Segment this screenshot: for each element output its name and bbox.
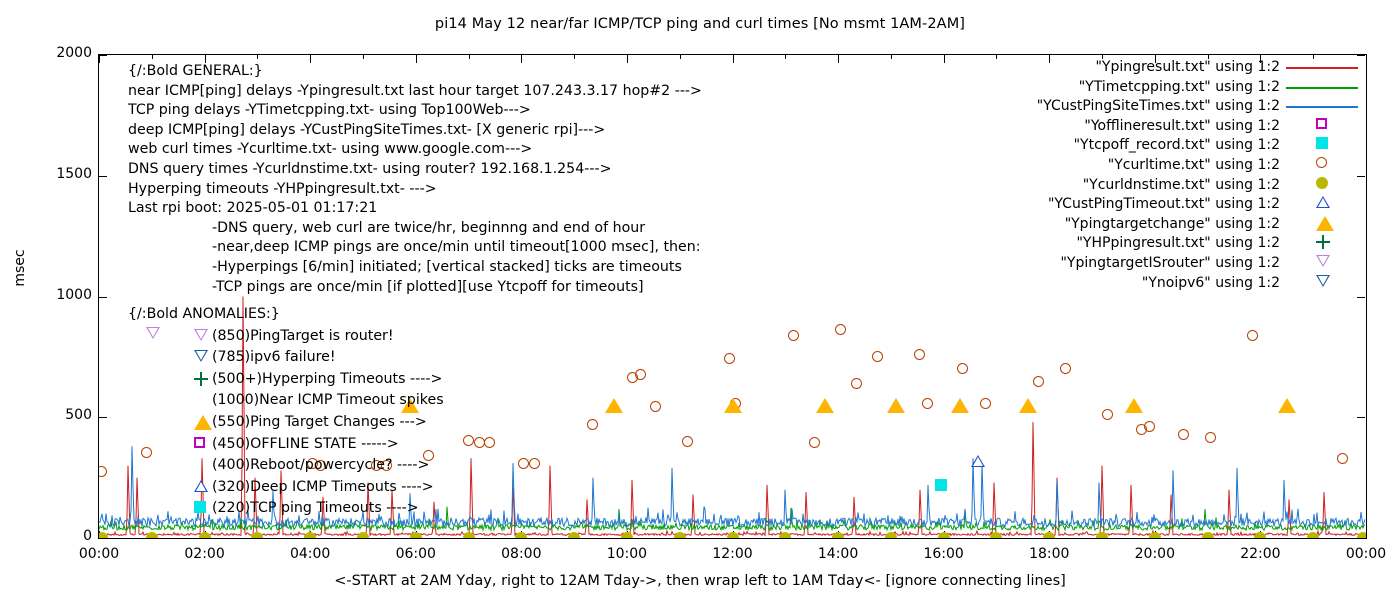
data-point-circle-open-brown [788, 330, 799, 341]
x-tick-label: 02:00 [184, 546, 224, 562]
data-point-circle-open-brown [484, 437, 495, 448]
data-point-circle-filled-olive [1149, 532, 1161, 538]
y-tick-label: 1000 [56, 287, 92, 303]
circle-filled-icon [515, 532, 527, 538]
plus-icon [1316, 235, 1330, 249]
data-point-circle-filled-olive [885, 532, 897, 538]
data-point-circle-open-brown [872, 351, 883, 362]
circle-open-icon [682, 436, 693, 447]
data-point-circle-filled-olive [304, 532, 316, 538]
general-line: near ICMP[ping] delays -Ypingresult.txt … [128, 82, 702, 102]
anomaly-label: (400)Reboot/powercycle? ----> [212, 455, 429, 477]
circle-filled-icon [357, 532, 369, 538]
circle-open-icon [922, 398, 933, 409]
anomaly-label: (450)OFFLINE STATE -----> [212, 434, 399, 456]
circle-open-icon [1144, 421, 1155, 432]
triangle-up-filled-icon [1125, 398, 1143, 413]
anomaly-row: (450)OFFLINE STATE -----> [128, 434, 280, 456]
legend-line-sample [1286, 106, 1358, 108]
anomaly-row: (400)Reboot/powercycle? ----> [128, 455, 280, 477]
legend-item-label: "Yofflineresult.txt" using 1:2 [1084, 117, 1280, 137]
circle-open-icon [99, 466, 107, 477]
legend-key [1286, 156, 1358, 176]
x-tick-label: 00:00 [79, 546, 119, 562]
general-line: DNS query times -Ycurldnstime.txt- using… [128, 160, 702, 180]
legend-item: "Ycurltime.txt" using 1:2 [930, 156, 1280, 176]
x-tick-mark [1366, 531, 1367, 539]
circle-open-icon [957, 363, 968, 374]
anomaly-row: (220)TCP ping Timeouts ----> [128, 498, 280, 520]
triangle-up-filled-icon [1316, 216, 1334, 231]
triangle-up-filled-icon [605, 398, 623, 413]
circle-filled-icon [938, 532, 950, 538]
circle-filled-icon [463, 532, 475, 538]
chart-title: pi14 May 12 near/far ICMP/TCP ping and c… [0, 16, 1400, 32]
x-tick-label: 08:00 [501, 546, 541, 562]
legend-item-label: "YHPpingresult.txt" using 1:2 [1076, 234, 1280, 254]
anomaly-label: (220)TCP ping Timeouts ----> [212, 498, 419, 520]
circle-open-icon [788, 330, 799, 341]
data-point-circle-open-brown [650, 401, 661, 412]
legend-line-sample [1286, 67, 1358, 69]
circle-filled-icon [779, 532, 791, 538]
general-line-indented: -DNS query, web curl are twice/hr, begin… [128, 219, 702, 239]
data-point-circle-open-brown [1247, 330, 1258, 341]
legend-key [1286, 215, 1358, 235]
circle-filled-icon [1043, 532, 1055, 538]
legend-item: "YHPpingresult.txt" using 1:2 [930, 234, 1280, 254]
circle-open-icon [1178, 429, 1189, 440]
data-point-circle-filled-olive [199, 532, 211, 538]
triangle-down-open-violet-icon [194, 329, 208, 341]
triangle-up-filled-icon [194, 415, 212, 430]
general-line-indented: -TCP pings are once/min [if plotted][use… [128, 278, 702, 298]
legend: "Ypingresult.txt" using 1:2"YTimetcpping… [930, 58, 1280, 293]
y-tick-mark [99, 538, 107, 539]
anomaly-symbol [194, 350, 208, 362]
circle-filled-icon [1307, 532, 1319, 538]
legend-key [1286, 78, 1358, 98]
circle-open-icon [914, 349, 925, 360]
legend-key [1286, 97, 1358, 117]
legend-key [1286, 117, 1358, 137]
data-point-triangle-up-filled-orange [816, 398, 834, 413]
triangle-up-filled-icon [724, 398, 742, 413]
circle-filled-icon [146, 532, 158, 538]
legend-item: "Yofflineresult.txt" using 1:2 [930, 117, 1280, 137]
x-tick-label: 10:00 [607, 546, 647, 562]
data-point-circle-open-brown [682, 436, 693, 447]
anomaly-row: (1000)Near ICMP Timeout spikes [128, 390, 280, 412]
anomaly-label: (850)PingTarget is router! [212, 326, 394, 348]
data-point-circle-open-brown [1060, 363, 1071, 374]
circle-filled-icon [99, 532, 108, 538]
circle-open-icon [587, 419, 598, 430]
data-point-circle-filled-olive [99, 532, 108, 538]
data-point-circle-open-brown [587, 419, 598, 430]
x-tick-mark [1366, 55, 1367, 63]
triangle-up-filled-icon [816, 398, 834, 413]
legend-key [1286, 58, 1358, 78]
x-tick-label: 22:00 [1240, 546, 1280, 562]
y-axis-label: msec [12, 228, 28, 308]
data-point-circle-open-brown [922, 398, 933, 409]
y-tick-label: 2000 [56, 45, 92, 61]
triangle-up-open-icon [1316, 196, 1330, 208]
circle-filled-icon [1202, 532, 1214, 538]
legend-symbol-sample [1316, 216, 1334, 231]
square-filled-icon [194, 501, 206, 513]
legend-item: "YCustPingSiteTimes.txt" using 1:2 [930, 97, 1280, 117]
square-filled-icon [1316, 137, 1328, 149]
square-filled-icon [935, 479, 947, 491]
data-point-triangle-up-filled-orange [887, 398, 905, 413]
legend-symbol-sample [1316, 196, 1330, 208]
anomaly-row: (500+)Hyperping Timeouts ----> [128, 369, 280, 391]
general-line: Last rpi boot: 2025-05-01 01:17:21 [128, 199, 702, 219]
circle-filled-icon [674, 532, 686, 538]
circle-open-icon [635, 369, 646, 380]
anomaly-symbol [194, 372, 208, 386]
circle-open-icon [650, 401, 661, 412]
legend-item: "Ypingresult.txt" using 1:2 [930, 58, 1280, 78]
legend-item-label: "Ypingresult.txt" using 1:2 [1095, 58, 1280, 78]
data-point-circle-open-brown [474, 437, 485, 448]
legend-item-label: "YCustPingSiteTimes.txt" using 1:2 [1037, 97, 1280, 117]
circle-open-icon [872, 351, 883, 362]
legend-symbol-sample [1316, 118, 1327, 129]
general-line-indented: -Hyperpings [6/min] initiated; [vertical… [128, 258, 702, 278]
data-point-circle-filled-olive [990, 532, 1002, 538]
data-point-circle-filled-olive [1043, 532, 1055, 538]
triangle-down-open-violet-icon [1316, 255, 1330, 267]
legend-item-label: "YTimetcpping.txt" using 1:2 [1079, 78, 1280, 98]
x-tick-label: 12:00 [712, 546, 752, 562]
legend-symbol-sample [1316, 157, 1327, 168]
chart-root: pi14 May 12 near/far ICMP/TCP ping and c… [0, 0, 1400, 600]
data-point-circle-open-brown [914, 349, 925, 360]
circle-filled-icon [568, 532, 580, 538]
data-point-circle-filled-olive [568, 532, 580, 538]
general-line: Hyperping timeouts -YHPpingresult.txt- -… [128, 180, 702, 200]
circle-filled-icon [727, 532, 739, 538]
data-point-circle-filled-olive [832, 532, 844, 538]
circle-open-icon [484, 437, 495, 448]
data-point-circle-open-brown [1144, 421, 1155, 432]
data-point-circle-open-brown [1102, 409, 1113, 420]
data-point-circle-filled-olive [779, 532, 791, 538]
anomaly-symbol [194, 480, 208, 492]
general-line-indented: -near,deep ICMP pings are once/min until… [128, 238, 702, 258]
x-tick-label: 14:00 [818, 546, 858, 562]
data-point-circle-open-brown [529, 458, 540, 469]
general-line: deep ICMP[ping] delays -YCustPingSiteTim… [128, 121, 702, 141]
legend-item: "YCustPingTimeout.txt" using 1:2 [930, 195, 1280, 215]
data-point-circle-open-brown [980, 398, 991, 409]
data-point-circle-open-brown [99, 466, 107, 477]
circle-filled-icon [251, 532, 263, 538]
x-axis-label: <-START at 2AM Yday, right to 12AM Tday-… [0, 573, 1400, 589]
data-point-triangle-up-filled-orange [951, 398, 969, 413]
data-point-circle-open-brown [635, 369, 646, 380]
data-point-triangle-up-filled-orange [1278, 398, 1296, 413]
square-open-icon [194, 437, 205, 448]
legend-symbol-sample [1316, 275, 1330, 287]
data-point-circle-filled-olive [1202, 532, 1214, 538]
legend-item-label: "YpingtargetISrouter" using 1:2 [1060, 254, 1280, 274]
data-point-circle-open-brown [1205, 432, 1216, 443]
anomaly-label: (1000)Near ICMP Timeout spikes [212, 390, 444, 412]
triangle-up-filled-icon [951, 398, 969, 413]
triangle-down-open-blue-icon [194, 350, 208, 362]
x-tick-label: 18:00 [1029, 546, 1069, 562]
data-point-circle-filled-olive [1307, 532, 1319, 538]
circle-open-icon [518, 458, 529, 469]
anomaly-label: (320)Deep ICMP Timeouts ----> [212, 477, 434, 499]
legend-item-label: "YCustPingTimeout.txt" using 1:2 [1048, 195, 1280, 215]
data-point-circle-open-brown [1178, 429, 1189, 440]
square-open-icon [1316, 118, 1327, 129]
legend-key [1286, 195, 1358, 215]
plus-icon [194, 372, 208, 386]
anomaly-symbol [194, 501, 206, 513]
legend-item: "Ynoipv6" using 1:2 [930, 274, 1280, 294]
circle-filled-icon [1316, 177, 1328, 189]
legend-key [1286, 176, 1358, 196]
circle-filled-icon [1149, 532, 1161, 538]
anomaly-label: (785)ipv6 failure! [212, 347, 336, 369]
circle-open-icon [463, 435, 474, 446]
triangle-up-filled-icon [1278, 398, 1296, 413]
data-point-circle-open-brown [851, 378, 862, 389]
anomalies-heading: {/:Bold ANOMALIES:} [128, 304, 280, 326]
legend-key [1286, 136, 1358, 156]
general-line: TCP ping delays -YTimetcpping.txt- using… [128, 101, 702, 121]
data-point-circle-filled-olive [410, 532, 422, 538]
data-point-circle-filled-olive [463, 532, 475, 538]
legend-symbol-sample [1316, 235, 1330, 249]
data-point-circle-filled-olive [621, 532, 633, 538]
data-point-square-filled-cyan [935, 479, 947, 491]
anomaly-label: (550)Ping Target Changes ---> [212, 412, 427, 434]
data-point-circle-filled-olive [1096, 532, 1108, 538]
circle-open-icon [1337, 453, 1348, 464]
data-point-circle-filled-olive [146, 532, 158, 538]
general-line: web curl times -Ycurltime.txt- using www… [128, 140, 702, 160]
legend-item-label: "Ypingtargetchange" using 1:2 [1065, 215, 1280, 235]
circle-open-icon [1102, 409, 1113, 420]
data-point-triangle-up-filled-orange [1125, 398, 1143, 413]
legend-item-label: "Ynoipv6" using 1:2 [1142, 274, 1280, 294]
data-point-triangle-up-filled-orange [605, 398, 623, 413]
anomalies-annotation-block: {/:Bold ANOMALIES:}(850)PingTarget is ro… [128, 304, 280, 520]
circle-open-icon [1033, 376, 1044, 387]
legend-line-sample [1286, 87, 1358, 89]
data-point-circle-open-brown [835, 324, 846, 335]
data-point-circle-filled-olive [727, 532, 739, 538]
legend-key [1286, 274, 1358, 294]
x-tick-label: 06:00 [396, 546, 436, 562]
legend-key [1286, 254, 1358, 274]
triangle-up-open-icon [971, 455, 985, 467]
x-tick-label: 20:00 [1135, 546, 1175, 562]
circle-filled-icon [621, 532, 633, 538]
data-point-circle-filled-olive [357, 532, 369, 538]
y-tick-label: 1500 [56, 166, 92, 182]
anomaly-row: (550)Ping Target Changes ---> [128, 412, 280, 434]
general-heading: {/:Bold GENERAL:} [128, 62, 702, 82]
y-tick-mark [1357, 538, 1365, 539]
circle-filled-icon [885, 532, 897, 538]
data-point-triangle-up-open-blue [971, 455, 985, 467]
data-point-triangle-up-filled-orange [724, 398, 742, 413]
data-point-triangle-up-filled-orange [1019, 398, 1037, 413]
legend-item: "Ypingtargetchange" using 1:2 [930, 215, 1280, 235]
data-point-circle-open-brown [1337, 453, 1348, 464]
data-point-circle-filled-olive [938, 532, 950, 538]
data-point-circle-filled-olive [515, 532, 527, 538]
circle-filled-icon [832, 532, 844, 538]
data-point-circle-filled-olive [251, 532, 263, 538]
anomaly-symbol [194, 415, 212, 430]
circle-open-icon [1205, 432, 1216, 443]
x-tick-label: 00:00 [1346, 546, 1386, 562]
circle-open-icon [474, 437, 485, 448]
y-tick-label: 500 [65, 407, 92, 423]
general-annotation-block: {/:Bold GENERAL:}near ICMP[ping] delays … [128, 62, 702, 297]
legend-key [1286, 234, 1358, 254]
legend-item: "YpingtargetISrouter" using 1:2 [930, 254, 1280, 274]
legend-symbol-sample [1316, 137, 1328, 149]
legend-item: "YTimetcpping.txt" using 1:2 [930, 78, 1280, 98]
anomaly-symbol [194, 329, 208, 341]
circle-filled-icon [1254, 532, 1266, 538]
legend-symbol-sample [1316, 255, 1330, 267]
anomaly-symbol [194, 437, 205, 448]
data-point-circle-open-brown [518, 458, 529, 469]
circle-open-icon [1316, 157, 1327, 168]
data-point-circle-open-brown [809, 437, 820, 448]
anomaly-row: (785)ipv6 failure! [128, 347, 280, 369]
x-tick-label: 16:00 [923, 546, 963, 562]
circle-open-icon [851, 378, 862, 389]
circle-filled-icon [1357, 532, 1366, 538]
y-tick-label: 0 [83, 528, 92, 544]
data-point-circle-open-brown [724, 353, 735, 364]
circle-filled-icon [990, 532, 1002, 538]
circle-open-icon [1247, 330, 1258, 341]
circle-filled-icon [1096, 532, 1108, 538]
data-point-circle-filled-olive [1357, 532, 1366, 538]
circle-open-icon [724, 353, 735, 364]
circle-filled-icon [304, 532, 316, 538]
triangle-up-filled-icon [887, 398, 905, 413]
x-tick-label: 04:00 [290, 546, 330, 562]
data-point-circle-open-brown [957, 363, 968, 374]
anomaly-row: (320)Deep ICMP Timeouts ----> [128, 477, 280, 499]
legend-item-label: "Ytcpoff_record.txt" using 1:2 [1074, 136, 1280, 156]
data-point-circle-open-brown [463, 435, 474, 446]
data-point-circle-filled-olive [674, 532, 686, 538]
circle-open-icon [980, 398, 991, 409]
triangle-up-filled-icon [1019, 398, 1037, 413]
circle-open-icon [529, 458, 540, 469]
legend-symbol-sample [1316, 177, 1328, 189]
legend-item-label: "Ycurltime.txt" using 1:2 [1108, 156, 1280, 176]
circle-open-icon [1060, 363, 1071, 374]
legend-item-label: "Ycurldnstime.txt" using 1:2 [1083, 176, 1280, 196]
circle-filled-icon [410, 532, 422, 538]
legend-item: "Ytcpoff_record.txt" using 1:2 [930, 136, 1280, 156]
triangle-down-open-blue-icon [1316, 275, 1330, 287]
triangle-up-open-icon [194, 480, 208, 492]
legend-item: "Ycurldnstime.txt" using 1:2 [930, 176, 1280, 196]
circle-filled-icon [199, 532, 211, 538]
anomaly-row: (850)PingTarget is router! [128, 326, 280, 348]
data-point-circle-open-brown [1033, 376, 1044, 387]
anomaly-label: (500+)Hyperping Timeouts ----> [212, 369, 442, 391]
circle-open-icon [809, 437, 820, 448]
circle-open-icon [835, 324, 846, 335]
data-point-circle-filled-olive [1254, 532, 1266, 538]
